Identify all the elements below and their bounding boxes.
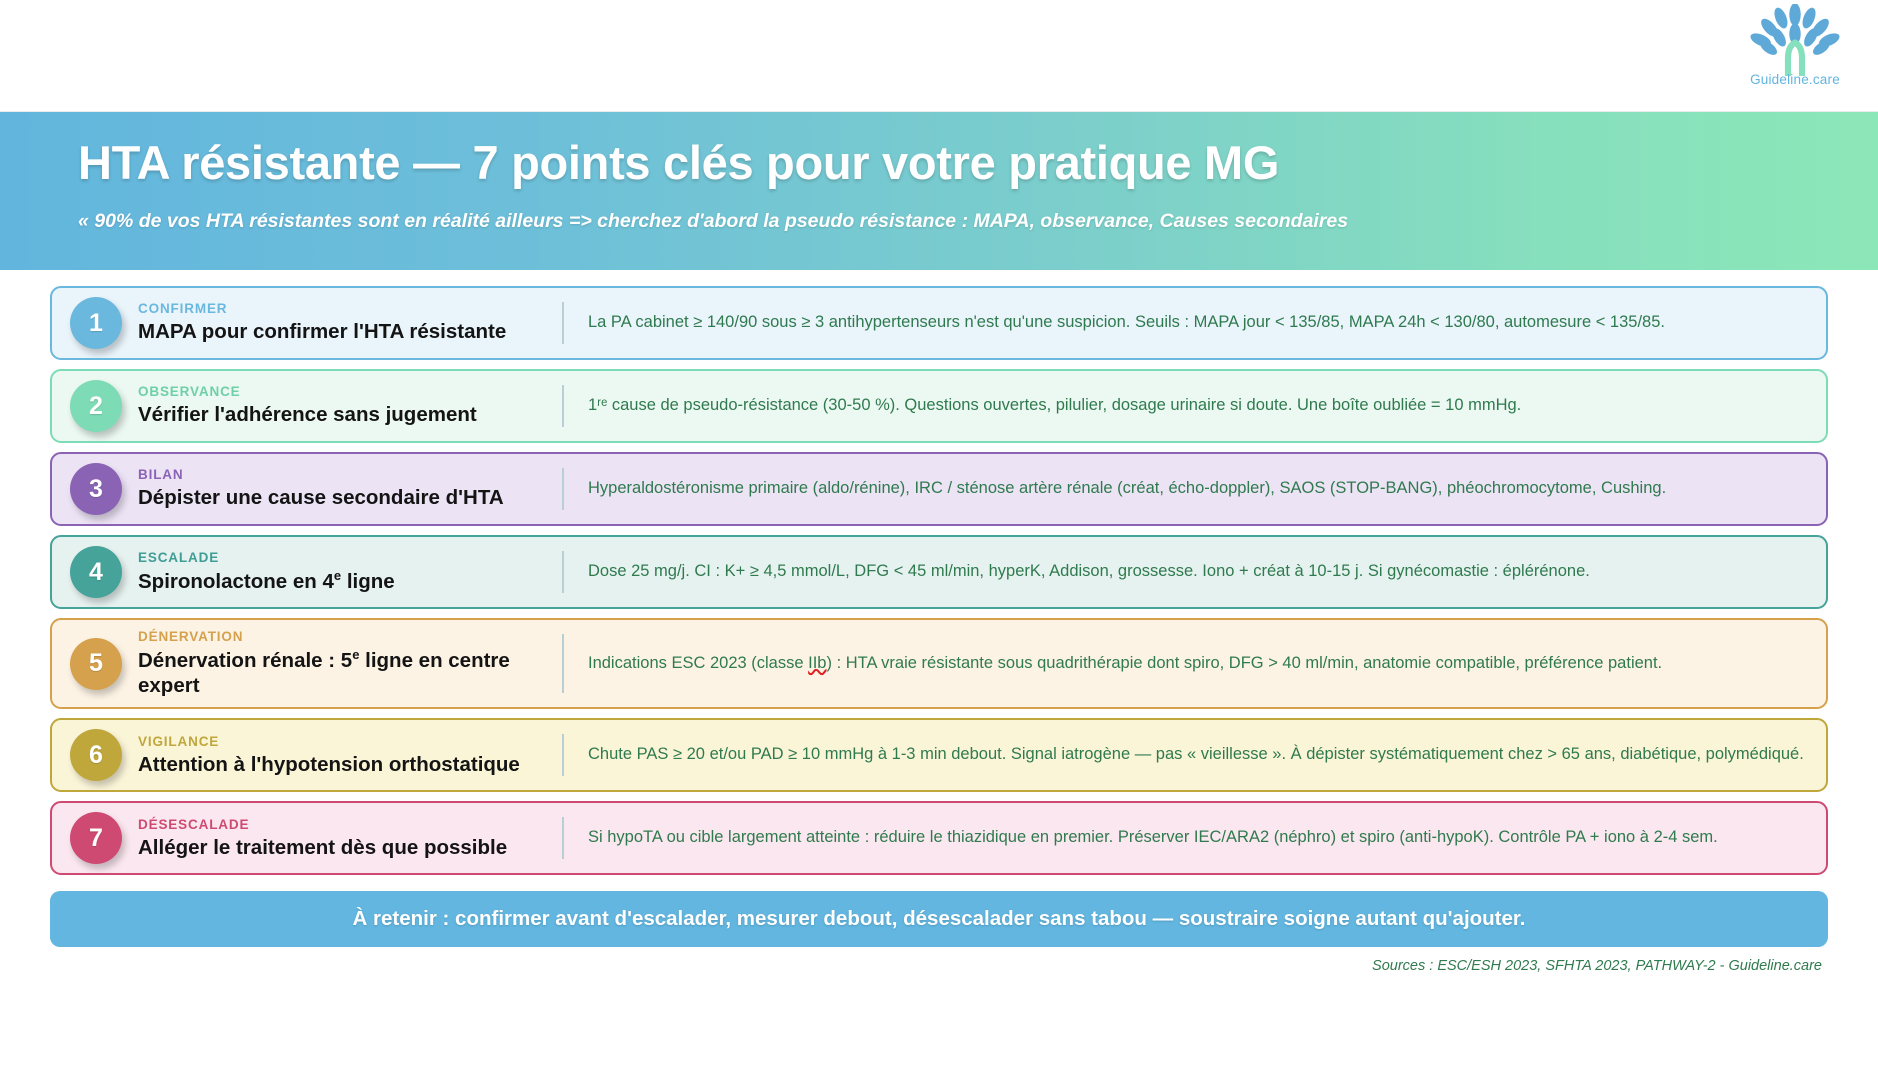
title-banner: HTA résistante — 7 points clés pour votr…: [0, 112, 1878, 270]
card-left-pane: 5 DÉNERVATION Dénervation rénale : 5e li…: [52, 620, 562, 707]
infographic-page: Guideline.care HTA résistante — 7 points…: [0, 0, 1878, 1068]
tree-logo-icon: [1741, 4, 1849, 76]
card-right-pane: Hyperaldostéronisme primaire (aldo/rénin…: [564, 454, 1826, 524]
key-point-card[interactable]: 3 BILAN Dépister une cause secondaire d'…: [50, 452, 1828, 526]
headline-pre: Spironolactone en 4: [138, 570, 334, 593]
card-headline: MAPA pour confirmer l'HTA résistante: [138, 319, 506, 344]
step-number-badge: 3: [70, 463, 122, 515]
card-text-block: OBSERVANCE Vérifier l'adhérence sans jug…: [138, 384, 477, 427]
top-bar: Guideline.care: [0, 0, 1878, 112]
sources-line: Sources : ESC/ESH 2023, SFHTA 2023, PATH…: [0, 958, 1822, 974]
card-left-pane: 2 OBSERVANCE Vérifier l'adhérence sans j…: [52, 371, 562, 441]
card-kicker: VIGILANCE: [138, 734, 520, 749]
brand-name: Guideline.care: [1730, 72, 1860, 87]
card-left-pane: 6 VIGILANCE Attention à l'hypotension or…: [52, 720, 562, 790]
card-detail: La PA cabinet ≥ 140/90 sous ≥ 3 antihype…: [588, 312, 1665, 334]
key-points-list: 1 CONFIRMER MAPA pour confirmer l'HTA ré…: [0, 270, 1878, 875]
card-kicker: ESCALADE: [138, 550, 395, 565]
card-right-pane: Si hypoTA ou cible largement atteinte : …: [564, 803, 1826, 873]
card-kicker: BILAN: [138, 467, 504, 482]
step-number-badge: 4: [70, 546, 122, 598]
card-left-pane: 4 ESCALADE Spironolactone en 4e ligne: [52, 537, 562, 607]
key-point-card[interactable]: 7 DÉSESCALADE Alléger le traitement dès …: [50, 801, 1828, 875]
card-right-pane: Indications ESC 2023 (classe IIb) : HTA …: [564, 620, 1826, 707]
headline-pre: Dénervation rénale : 5: [138, 649, 352, 672]
page-subtitle: « 90% de vos HTA résistantes sont en réa…: [78, 210, 1814, 233]
card-kicker: CONFIRMER: [138, 301, 506, 316]
card-text-block: CONFIRMER MAPA pour confirmer l'HTA rési…: [138, 301, 506, 344]
card-headline: Alléger le traitement dès que possible: [138, 835, 507, 860]
card-headline: Attention à l'hypotension orthostatique: [138, 752, 520, 777]
card-right-pane: La PA cabinet ≥ 140/90 sous ≥ 3 antihype…: [564, 288, 1826, 358]
detail-post: ) : HTA vraie résistante sous quadrithér…: [826, 654, 1662, 672]
takeaway-callout: À retenir : confirmer avant d'escalader,…: [50, 891, 1828, 947]
card-headline: Dépister une cause secondaire d'HTA: [138, 485, 504, 510]
card-headline: Vérifier l'adhérence sans jugement: [138, 402, 477, 427]
card-right-pane: Chute PAS ≥ 20 et/ou PAD ≥ 10 mmHg à 1-3…: [564, 720, 1826, 790]
key-point-card[interactable]: 1 CONFIRMER MAPA pour confirmer l'HTA ré…: [50, 286, 1828, 360]
card-detail: Dose 25 mg/j. CI : K+ ≥ 4,5 mmol/L, DFG …: [588, 561, 1590, 583]
key-point-card[interactable]: 2 OBSERVANCE Vérifier l'adhérence sans j…: [50, 369, 1828, 443]
brand-block: Guideline.care: [1730, 4, 1860, 87]
card-detail: Si hypoTA ou cible largement atteinte : …: [588, 827, 1718, 849]
spellcheck-flagged-word: IIb: [808, 654, 826, 672]
step-number-badge: 7: [70, 812, 122, 864]
key-point-card[interactable]: 6 VIGILANCE Attention à l'hypotension or…: [50, 718, 1828, 792]
card-headline: Spironolactone en 4e ligne: [138, 568, 395, 594]
card-kicker: DÉSESCALADE: [138, 817, 507, 832]
detail-pre: Indications ESC 2023 (classe: [588, 654, 808, 672]
card-right-pane: Dose 25 mg/j. CI : K+ ≥ 4,5 mmol/L, DFG …: [564, 537, 1826, 607]
step-number-badge: 6: [70, 729, 122, 781]
card-right-pane: 1ʳᵉ cause de pseudo-résistance (30-50 %)…: [564, 371, 1826, 441]
card-text-block: DÉSESCALADE Alléger le traitement dès qu…: [138, 817, 507, 860]
card-left-pane: 1 CONFIRMER MAPA pour confirmer l'HTA ré…: [52, 288, 562, 358]
card-detail: Chute PAS ≥ 20 et/ou PAD ≥ 10 mmHg à 1-3…: [588, 744, 1804, 766]
step-number-badge: 5: [70, 638, 122, 690]
key-point-card[interactable]: 4 ESCALADE Spironolactone en 4e ligne Do…: [50, 535, 1828, 609]
page-title: HTA résistante — 7 points clés pour votr…: [78, 138, 1814, 188]
card-left-pane: 3 BILAN Dépister une cause secondaire d'…: [52, 454, 562, 524]
card-text-block: ESCALADE Spironolactone en 4e ligne: [138, 550, 395, 594]
card-headline: Dénervation rénale : 5e ligne en centre …: [138, 647, 546, 698]
card-detail: Hyperaldostéronisme primaire (aldo/rénin…: [588, 478, 1666, 500]
key-point-card[interactable]: 5 DÉNERVATION Dénervation rénale : 5e li…: [50, 618, 1828, 709]
card-left-pane: 7 DÉSESCALADE Alléger le traitement dès …: [52, 803, 562, 873]
step-number-badge: 2: [70, 380, 122, 432]
card-kicker: OBSERVANCE: [138, 384, 477, 399]
card-text-block: VIGILANCE Attention à l'hypotension orth…: [138, 734, 520, 777]
card-text-block: DÉNERVATION Dénervation rénale : 5e lign…: [138, 629, 546, 698]
step-number-badge: 1: [70, 297, 122, 349]
card-detail: Indications ESC 2023 (classe IIb) : HTA …: [588, 653, 1662, 675]
card-text-block: BILAN Dépister une cause secondaire d'HT…: [138, 467, 504, 510]
headline-post: ligne: [341, 570, 395, 593]
card-kicker: DÉNERVATION: [138, 629, 546, 644]
card-detail: 1ʳᵉ cause de pseudo-résistance (30-50 %)…: [588, 395, 1521, 417]
